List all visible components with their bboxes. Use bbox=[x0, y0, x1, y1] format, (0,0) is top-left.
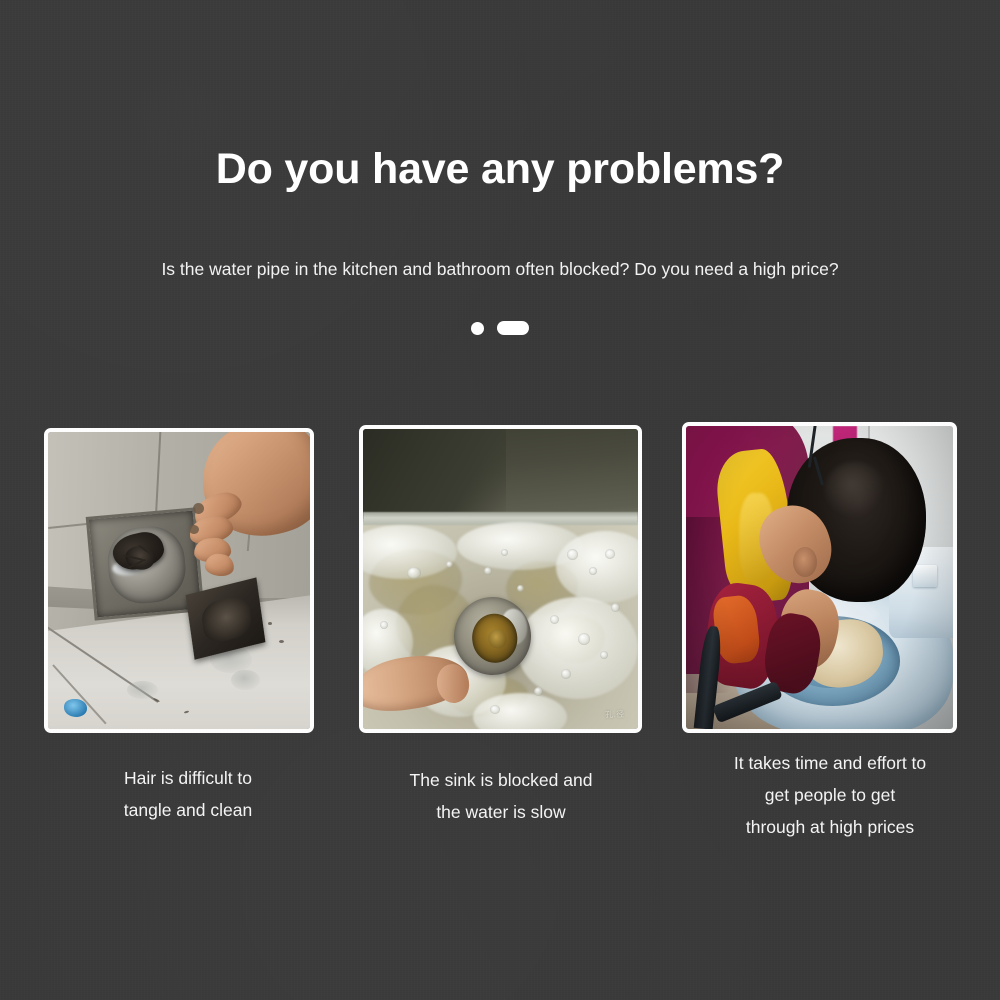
problem-card-high-prices[interactable] bbox=[682, 422, 957, 733]
photo-toilet-unclog bbox=[686, 426, 953, 729]
caption-line: the water is slow bbox=[355, 796, 647, 828]
problem-card-sink-blocked[interactable]: 孔.径 bbox=[359, 425, 642, 733]
image-watermark: 孔.径 bbox=[604, 709, 624, 721]
caption-line: Hair is difficult to bbox=[44, 762, 332, 794]
problem-card-hair-clog[interactable] bbox=[44, 428, 314, 733]
caption-line: The sink is blocked and bbox=[355, 764, 647, 796]
card-caption-hair-clog: Hair is difficult to tangle and clean bbox=[44, 762, 332, 826]
photo-sink-blocked: 孔.径 bbox=[363, 429, 638, 729]
card-caption-high-prices: It takes time and effort to get people t… bbox=[686, 747, 974, 843]
caption-line: It takes time and effort to bbox=[686, 747, 974, 779]
caption-line: through at high prices bbox=[686, 811, 974, 843]
caption-line: get people to get bbox=[686, 779, 974, 811]
promo-slide-root: Do you have any problems? Is the water p… bbox=[0, 0, 1000, 1000]
card-caption-sink-blocked: The sink is blocked and the water is slo… bbox=[355, 764, 647, 828]
photo-hair-clog bbox=[48, 432, 310, 729]
caption-line: tangle and clean bbox=[44, 794, 332, 826]
problem-cards-row: 孔.径 bbox=[0, 0, 1000, 1000]
